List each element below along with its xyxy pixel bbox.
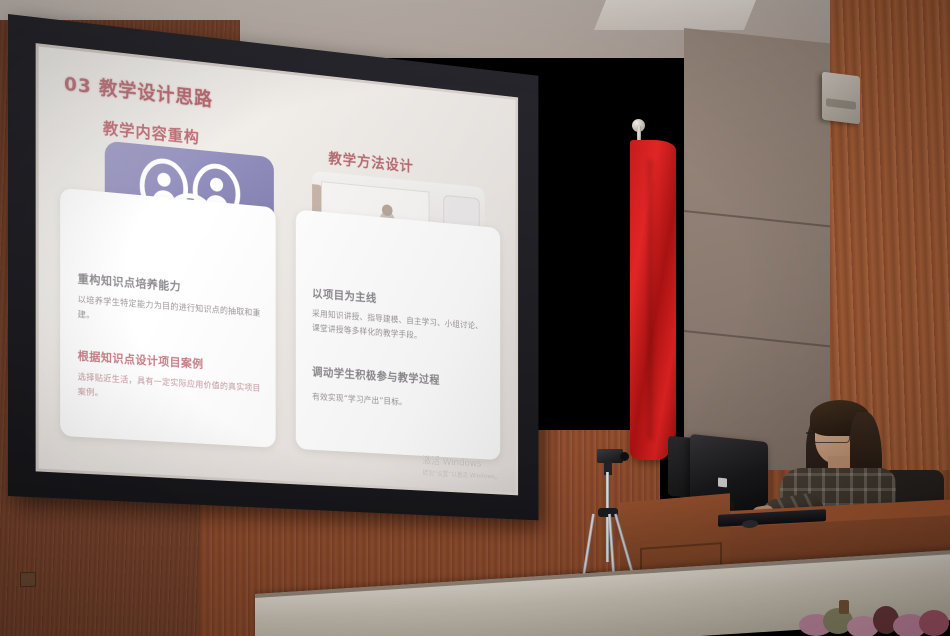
right-column-header: 教学方法设计 bbox=[328, 148, 413, 176]
lecture-room-photo: 03 教学设计思路 教学内容重构 教学方法设计 bbox=[0, 0, 950, 636]
right-content-card: 以项目为主线 采用知识讲授、指导建模、自主学习、小组讨论、课堂讲授等多样化的教学… bbox=[296, 209, 500, 460]
screen-inner-border: 03 教学设计思路 教学内容重构 教学方法设计 bbox=[36, 43, 518, 495]
left-content-card: 重构知识点培养能力 以培养学生特定能力为目的进行知识点的抽取和重建。 根据知识点… bbox=[60, 188, 276, 448]
glasses-temple bbox=[806, 432, 815, 434]
left-block-1-body: 以培养学生特定能力为目的进行知识点的抽取和重建。 bbox=[78, 293, 263, 336]
right-block-2-heading: 调动学生积极参与教学过程 bbox=[312, 364, 488, 391]
projection-screen: 03 教学设计思路 教学内容重构 教学方法设计 bbox=[8, 14, 538, 520]
windows-activation-watermark: 激活 Windows 转到“设置”以激活 Windows。 bbox=[423, 452, 501, 480]
monitor-logo-icon bbox=[718, 478, 727, 488]
wall-outlet bbox=[20, 572, 36, 588]
ceiling-recess bbox=[594, 0, 756, 30]
presentation-slide: 03 教学设计思路 教学内容重构 教学方法设计 bbox=[39, 46, 516, 492]
flag-fold-shadow bbox=[648, 160, 655, 440]
glasses-icon bbox=[812, 430, 850, 443]
camera-lens-icon bbox=[620, 452, 629, 461]
flower-arrangement bbox=[795, 598, 950, 636]
right-block-2-body: 有效实现“学习产出”目标。 bbox=[312, 391, 488, 416]
slide-title: 03 教学设计思路 bbox=[64, 69, 213, 111]
left-block-2-body: 选择贴近生活，具有一定实际应用价值的真实项目案例。 bbox=[78, 371, 263, 412]
right-block-1-body: 采用知识讲授、指导建模、自主学习、小组讨论、课堂讲授等多样化的教学手段。 bbox=[312, 307, 488, 348]
